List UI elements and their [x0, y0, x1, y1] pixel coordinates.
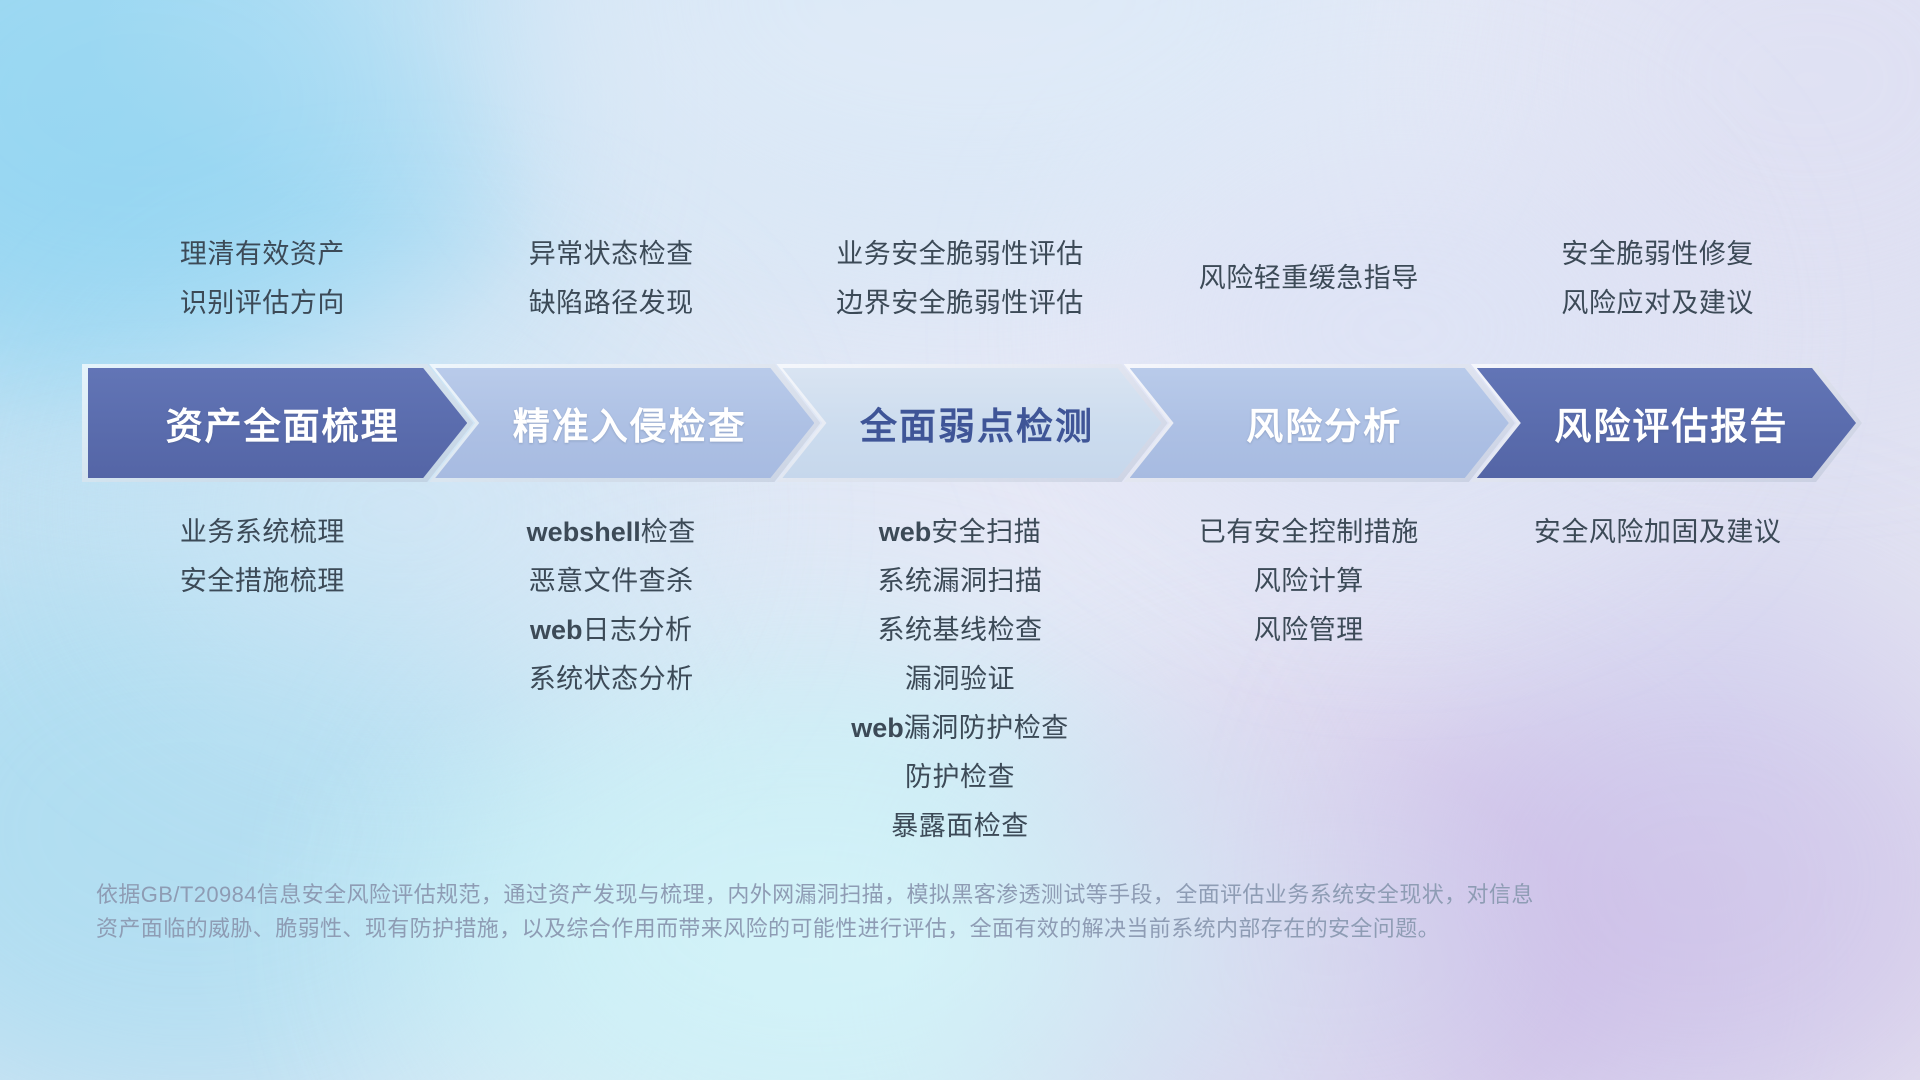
infographic-canvas: 理清有效资产识别评估方向异常状态检查缺陷路径发现业务安全脆弱性评估边界安全脆弱性… [0, 0, 1920, 1080]
top-annotation-item: 业务安全脆弱性评估 [836, 230, 1084, 279]
detail-column: 已有安全控制措施风险计算风险管理 [1134, 508, 1483, 655]
detail-column: 安全风险加固及建议 [1483, 508, 1832, 557]
footer-description: 依据GB/T20984信息安全风险评估规范，通过资产发现与梳理，内外网漏洞扫描，… [96, 878, 1636, 946]
top-annotation-item: 安全脆弱性修复 [1561, 230, 1754, 279]
top-annotation-item: 理清有效资产 [180, 230, 345, 279]
top-annotation-column: 异常状态检查缺陷路径发现 [437, 230, 786, 328]
bottom-details-row: 业务系统梳理安全措施梳理webshell检查恶意文件查杀web日志分析系统状态分… [88, 508, 1832, 851]
detail-item: 系统漏洞扫描 [877, 557, 1042, 606]
stage-arrow-2[interactable]: 精准入侵检查 [435, 368, 814, 478]
detail-item: 风险计算 [1254, 557, 1364, 606]
stage-arrow-5[interactable]: 风险评估报告 [1477, 368, 1856, 478]
detail-column: web安全扫描系统漏洞扫描系统基线检查漏洞验证web漏洞防护检查防护检查暴露面检… [786, 508, 1135, 851]
top-annotation-item: 风险轻重缓急指导 [1199, 254, 1419, 303]
top-annotation-column: 业务安全脆弱性评估边界安全脆弱性评估 [786, 230, 1135, 328]
process-arrow-band: 资产全面梳理精准入侵检查全面弱点检测风险分析风险评估报告 [88, 368, 1856, 478]
detail-item: 风险管理 [1254, 606, 1364, 655]
stage-arrow-label: 资产全面梳理 [88, 396, 467, 450]
top-annotations-row: 理清有效资产识别评估方向异常状态检查缺陷路径发现业务安全脆弱性评估边界安全脆弱性… [88, 230, 1832, 328]
detail-item: 恶意文件查杀 [529, 557, 694, 606]
detail-item: 安全风险加固及建议 [1534, 508, 1782, 557]
top-annotation-item: 风险应对及建议 [1561, 279, 1754, 328]
top-annotation-item: 识别评估方向 [180, 279, 345, 328]
stage-arrow-label: 精准入侵检查 [435, 396, 814, 450]
stage-arrow-label: 全面弱点检测 [782, 396, 1161, 450]
detail-column: 业务系统梳理安全措施梳理 [88, 508, 437, 606]
detail-item: 系统基线检查 [877, 606, 1042, 655]
top-annotation-item: 边界安全脆弱性评估 [836, 279, 1084, 328]
detail-item: webshell检查 [527, 508, 696, 557]
detail-column: webshell检查恶意文件查杀web日志分析系统状态分析 [437, 508, 786, 704]
detail-item: 暴露面检查 [891, 802, 1029, 851]
footer-line-2: 资产面临的威胁、脆弱性、现有防护措施，以及综合作用而带来风险的可能性进行评估，全… [96, 912, 1636, 946]
detail-item: 防护检查 [905, 753, 1015, 802]
detail-item: 漏洞验证 [905, 655, 1015, 704]
stage-arrow-label: 风险评估报告 [1477, 396, 1856, 450]
stage-arrow-label: 风险分析 [1130, 396, 1509, 450]
footer-line-1: 依据GB/T20984信息安全风险评估规范，通过资产发现与梳理，内外网漏洞扫描，… [96, 878, 1636, 912]
stage-arrow-4[interactable]: 风险分析 [1130, 368, 1509, 478]
top-annotation-column: 理清有效资产识别评估方向 [88, 230, 437, 328]
top-annotation-item: 异常状态检查 [529, 230, 694, 279]
top-annotation-column: 安全脆弱性修复风险应对及建议 [1483, 230, 1832, 328]
top-annotation-item: 缺陷路径发现 [529, 279, 694, 328]
diagram-content: 理清有效资产识别评估方向异常状态检查缺陷路径发现业务安全脆弱性评估边界安全脆弱性… [0, 0, 1920, 1080]
stage-arrow-1[interactable]: 资产全面梳理 [88, 368, 467, 478]
detail-item: 已有安全控制措施 [1199, 508, 1419, 557]
detail-item: 安全措施梳理 [180, 557, 345, 606]
detail-item: web漏洞防护检查 [851, 704, 1069, 753]
detail-item: web安全扫描 [879, 508, 1042, 557]
top-annotation-column: 风险轻重缓急指导 [1134, 230, 1483, 328]
detail-item: 系统状态分析 [529, 655, 694, 704]
detail-item: web日志分析 [530, 606, 693, 655]
stage-arrow-3[interactable]: 全面弱点检测 [782, 368, 1161, 478]
detail-item: 业务系统梳理 [180, 508, 345, 557]
